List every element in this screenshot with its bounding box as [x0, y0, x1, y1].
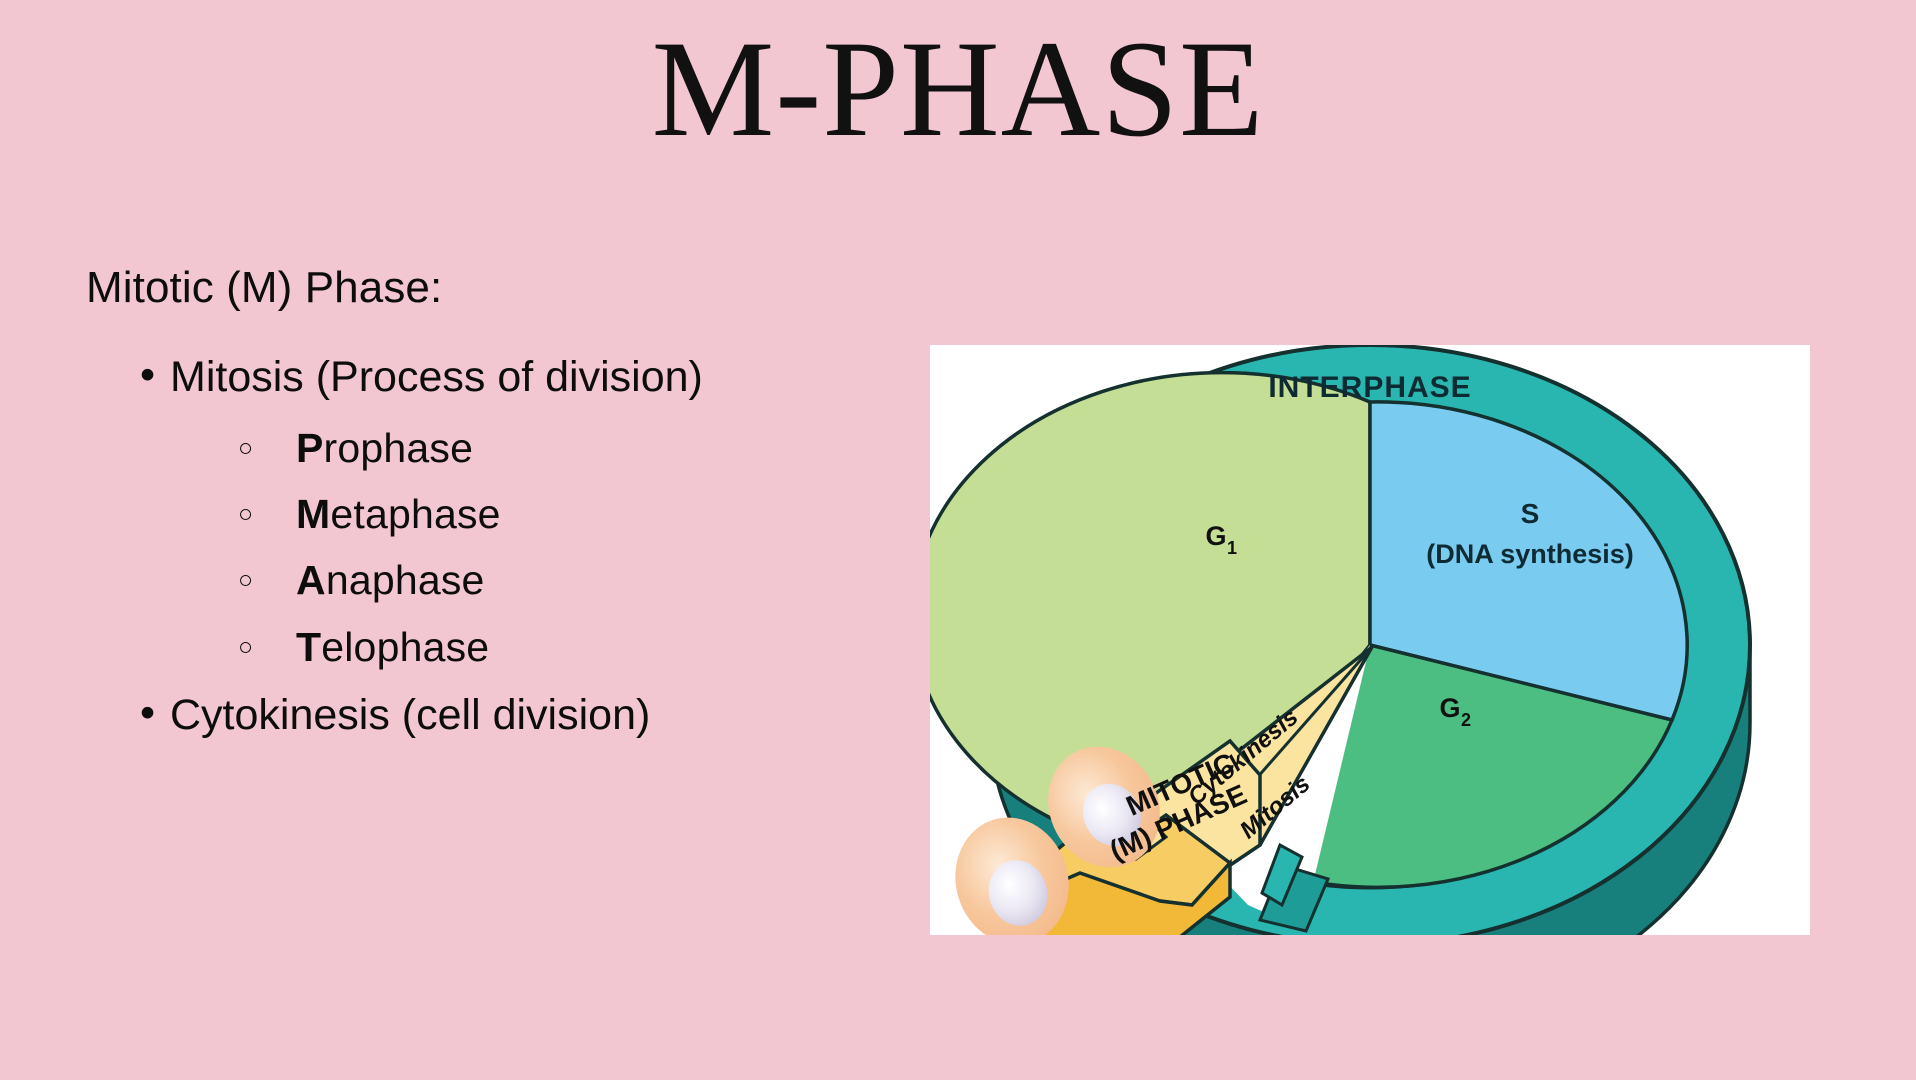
metaphase-rest: etaphase [330, 491, 500, 537]
label-s-detail: (DNA synthesis) [1426, 539, 1634, 569]
label-interphase: INTERPHASE [1268, 371, 1471, 404]
label-s: S [1521, 498, 1540, 529]
list-item-mitosis-label: Mitosis (Process of division) [170, 353, 703, 401]
prophase-initial: P [296, 425, 324, 471]
label-g1-text: G [1205, 521, 1226, 551]
page-title: M-PHASE [0, 14, 1916, 163]
list-item-cytokinesis-label: Cytokinesis (cell division) [170, 691, 650, 739]
label-g1-subscript: 1 [1227, 538, 1237, 558]
list-item-anaphase: ○ Anaphase [238, 547, 786, 613]
list-item-prophase: ○ Prophase [238, 415, 786, 481]
bullet-circle-icon: ○ [238, 481, 253, 548]
list-item-metaphase: ○ Metaphase [238, 481, 786, 547]
label-g2-subscript: 2 [1461, 710, 1471, 730]
lead-heading: Mitotic (M) Phase: [86, 262, 786, 314]
slide-root: { "slide": { "title": "M-PHASE", "backgr… [0, 0, 1916, 1080]
content-text-column: Mitotic (M) Phase: • Mitosis (Process of… [86, 262, 786, 751]
metaphase-initial: M [296, 491, 330, 537]
anaphase-rest: naphase [326, 557, 485, 603]
cell-cycle-svg: INTERPHASE G 1 S (DNA synthesis) G 2 Cyt… [930, 345, 1810, 935]
cell-cycle-diagram: INTERPHASE G 1 S (DNA synthesis) G 2 Cyt… [930, 345, 1810, 935]
label-g2-text: G [1439, 693, 1460, 723]
bullet-circle-icon: ○ [238, 614, 253, 681]
list-item-mitosis: • Mitosis (Process of division) ○ Propha… [140, 344, 786, 680]
bullet-dot-icon: • [140, 342, 155, 409]
list-item-cytokinesis: • Cytokinesis (cell division) [140, 682, 786, 749]
list-item-telophase: ○ Telophase [238, 614, 786, 680]
bullet-list-level1: • Mitosis (Process of division) ○ Propha… [86, 344, 786, 749]
bullet-circle-icon: ○ [238, 415, 253, 482]
anaphase-initial: A [296, 557, 326, 603]
bullet-circle-icon: ○ [238, 547, 253, 614]
bullet-dot-icon: • [140, 680, 155, 747]
telophase-rest: elophase [321, 624, 489, 670]
cell-cycle-figure-panel: INTERPHASE G 1 S (DNA synthesis) G 2 Cyt… [930, 345, 1810, 935]
telophase-initial: T [296, 624, 321, 670]
bullet-list-level2: ○ Prophase ○ Metaphase ○ Anaphase ○ Telo… [170, 415, 786, 681]
prophase-rest: rophase [324, 425, 474, 471]
